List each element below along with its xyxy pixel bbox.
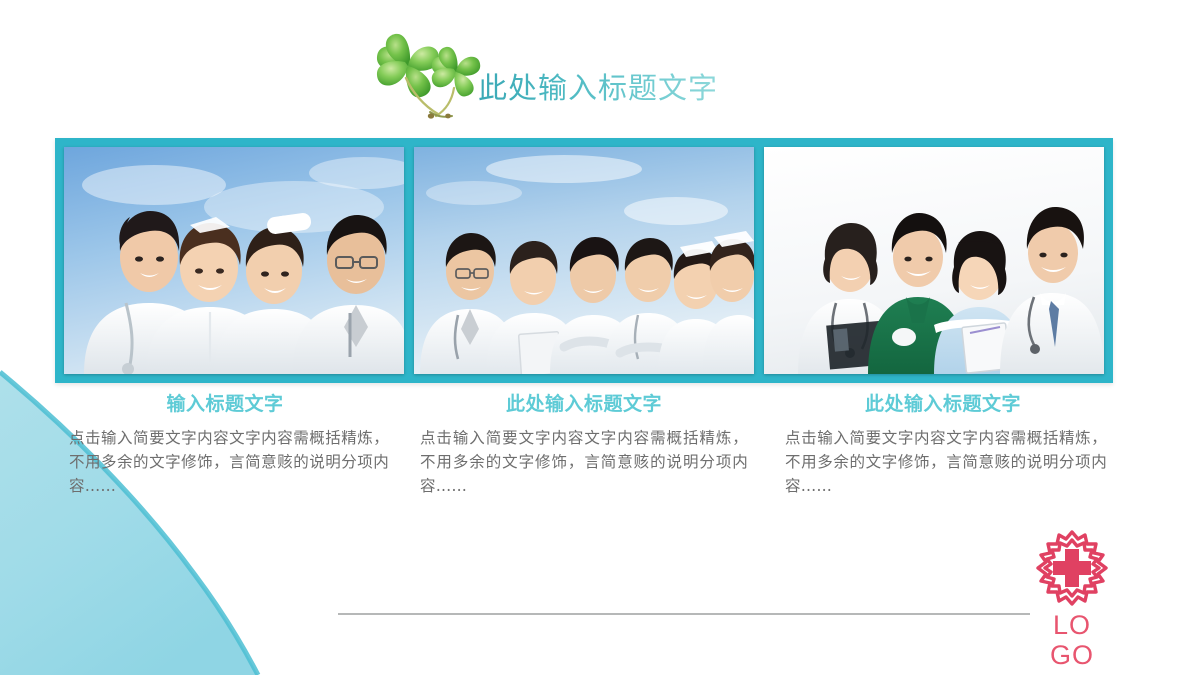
- column-body-3: 点击输入简要文字内容文字内容需概括精炼，不用多余的文字修饰，言简意赅的说明分项内…: [773, 426, 1113, 498]
- column-title-1: 输入标题文字: [55, 392, 395, 418]
- column-title-2: 此处输入标题文字: [414, 392, 754, 418]
- gallery-photo-1[interactable]: [64, 147, 404, 374]
- content-column-1: 输入标题文字 点击输入简要文字内容文字内容需概括精炼，不用多余的文字修饰，言简意…: [55, 392, 395, 542]
- slide-header: 此处输入标题文字: [0, 0, 1200, 138]
- medical-team-photo-1-art: [64, 147, 404, 374]
- column-title-3: 此处输入标题文字: [773, 392, 1113, 418]
- medical-cross-logo-icon: [1032, 528, 1112, 608]
- medical-team-photo-2-art: [414, 147, 754, 374]
- photo-strip: [55, 138, 1113, 383]
- footer-divider: [338, 613, 1030, 615]
- photo-gallery-band: [55, 138, 1113, 383]
- content-columns: 输入标题文字 点击输入简要文字内容文字内容需概括精炼，不用多余的文字修饰，言简意…: [55, 392, 1113, 542]
- medical-team-photo-3-art: [764, 147, 1104, 374]
- content-column-2: 此处输入标题文字 点击输入简要文字内容文字内容需概括精炼，不用多余的文字修饰，言…: [414, 392, 754, 542]
- page-title: 此处输入标题文字: [478, 70, 718, 108]
- slide-canvas: 此处输入标题文字: [0, 0, 1200, 675]
- clover-icon: [372, 26, 490, 134]
- content-column-3: 此处输入标题文字 点击输入简要文字内容文字内容需概括精炼，不用多余的文字修饰，言…: [773, 392, 1113, 542]
- column-body-2: 点击输入简要文字内容文字内容需概括精炼，不用多余的文字修饰，言简意赅的说明分项内…: [414, 426, 754, 498]
- gallery-photo-3[interactable]: [764, 147, 1104, 374]
- cross-glyph: [1053, 549, 1091, 587]
- logo-label: LOGO: [1044, 610, 1100, 670]
- footer-logo[interactable]: LOGO: [1018, 528, 1126, 670]
- gallery-photo-2[interactable]: [414, 147, 754, 374]
- column-body-1: 点击输入简要文字内容文字内容需概括精炼，不用多余的文字修饰，言简意赅的说明分项内…: [55, 426, 395, 498]
